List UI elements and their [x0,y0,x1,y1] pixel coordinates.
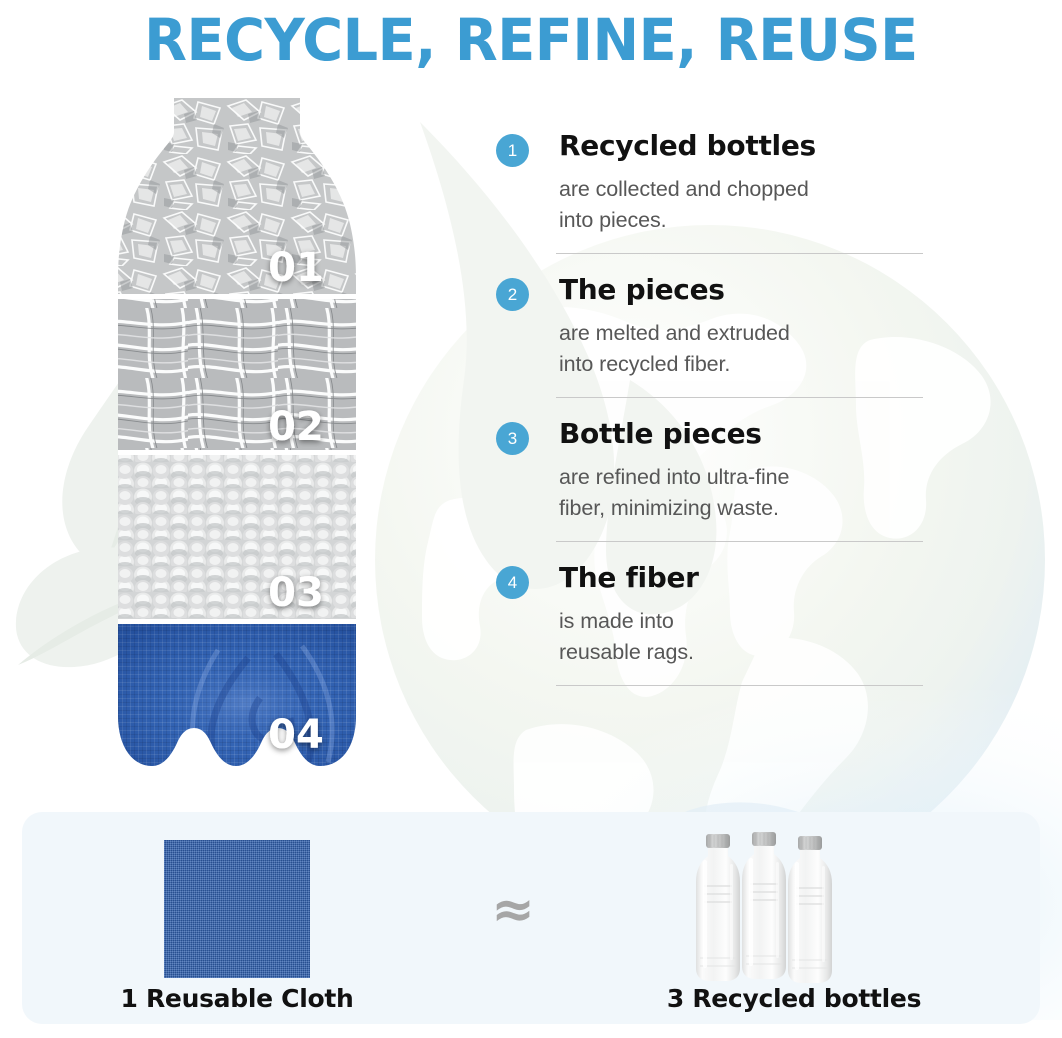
band-number-02: 02 [268,404,324,450]
equivalence-panel: 1 Reusable Cloth ≈ [22,812,1040,1024]
step-header: 4 The fiber [496,562,966,599]
step-body-4: is made into reusable rags. [559,606,966,667]
step-item-1: 1 Recycled bottles are collected and cho… [496,130,966,254]
step-divider-1 [556,253,923,254]
step-divider-2 [556,397,923,398]
step-item-2: 2 The pieces are melted and extruded int… [496,274,966,398]
step-badge-3: 3 [496,422,529,455]
band-number-01: 01 [268,245,324,291]
page-title: RECYCLE, REFINE, REUSE [144,11,918,69]
step-title-3: Bottle pieces [559,418,762,449]
step-title-1: Recycled bottles [559,130,816,161]
step-divider-3 [556,541,923,542]
step-title-4: The fiber [559,562,699,593]
approximately-equal-icon: ≈ [468,884,558,936]
step-header: 1 Recycled bottles [496,130,966,167]
step-header: 3 Bottle pieces [496,418,966,455]
step-badge-1: 1 [496,134,529,167]
segmented-bottle-diagram: 01 02 03 04 [98,98,418,798]
process-steps-list: 1 Recycled bottles are collected and cho… [496,130,966,686]
reusable-cloth-caption: 1 Reusable Cloth [62,984,412,1013]
band-number-03: 03 [268,570,324,616]
step-item-3: 3 Bottle pieces are refined into ultra-f… [496,418,966,542]
step-body-2: are melted and extruded into recycled fi… [559,318,966,379]
step-badge-4: 4 [496,566,529,599]
reusable-cloth-swatch [164,840,310,978]
step-body-1: are collected and chopped into pieces. [559,174,966,235]
step-title-2: The pieces [559,274,725,305]
recycled-bottles-illustration [694,830,874,985]
step-body-3: are refined into ultra-fine fiber, minim… [559,462,966,523]
band-number-04: 04 [268,712,324,758]
step-header: 2 The pieces [496,274,966,311]
step-divider-4 [556,685,923,686]
step-item-4: 4 The fiber is made into reusable rags. [496,562,966,686]
recycled-bottles-caption: 3 Recycled bottles [619,984,969,1013]
step-badge-2: 2 [496,278,529,311]
title-bar: RECYCLE, REFINE, REUSE [0,0,1062,80]
